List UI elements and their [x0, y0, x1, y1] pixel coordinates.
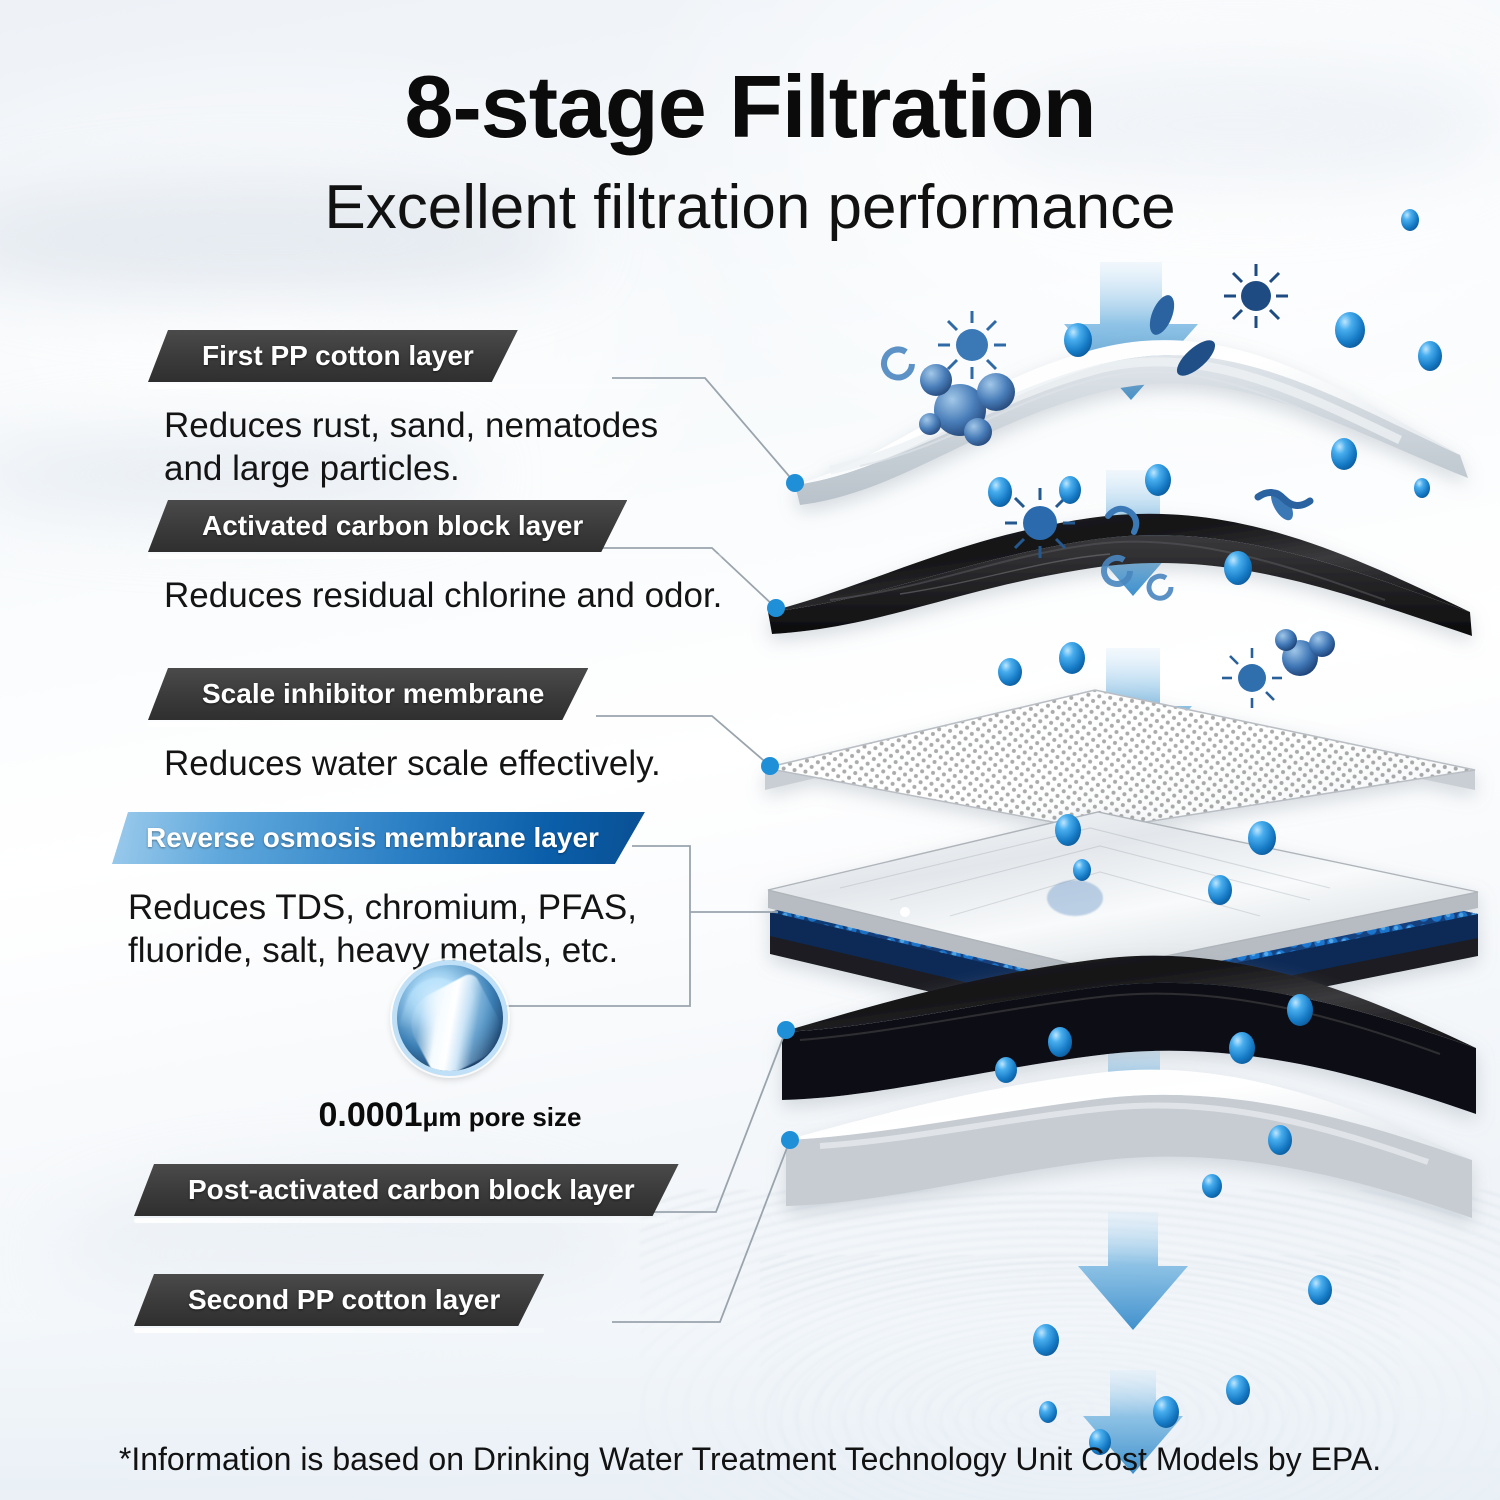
badge-underline-4	[112, 866, 645, 871]
desc-first-pp-cotton: Reduces rust, sand, nematodes and large …	[148, 405, 658, 490]
pore-size-value: 0.0001	[319, 1096, 423, 1134]
badge-post-activated-carbon-block[interactable]: Post-activated carbon block layer	[134, 1164, 679, 1216]
layer-label-column: First PP cotton layer Reduces rust, sand…	[0, 0, 760, 1500]
badge-underline-3	[148, 722, 661, 727]
badge-scale-inhibitor-membrane[interactable]: Scale inhibitor membrane	[148, 668, 588, 720]
desc-scale-inhibitor-membrane: Reduces water scale effectively.	[148, 743, 661, 786]
layer-scale-inhibitor-membrane	[765, 690, 1475, 830]
layer-second-pp-cotton	[786, 1070, 1472, 1218]
label-block-reverse-osmosis: Reverse osmosis membrane layer Reduces T…	[112, 812, 645, 972]
desc-activated-carbon-block: Reduces residual chlorine and odor.	[148, 575, 722, 618]
badge-underline-6	[134, 1328, 544, 1333]
badge-underline-5	[134, 1218, 679, 1223]
label-block-post-activated-carbon: Post-activated carbon block layer	[134, 1164, 679, 1223]
label-block-activated-carbon: Activated carbon block layer Reduces res…	[148, 500, 722, 618]
spiky-virus-1	[938, 311, 1006, 379]
badge-underline-1	[148, 384, 658, 389]
spiky-virus-4	[1222, 648, 1282, 708]
ro-membrane-roll-icon	[392, 960, 508, 1076]
pore-size-unit: μm pore size	[423, 1102, 582, 1132]
badge-first-pp-cotton[interactable]: First PP cotton layer	[148, 330, 518, 382]
badge-second-pp-cotton[interactable]: Second PP cotton layer	[134, 1274, 544, 1326]
pore-size-text: 0.0001μm pore size	[290, 1096, 610, 1135]
footer-note: *Information is based on Drinking Water …	[0, 1441, 1500, 1478]
label-block-scale-inhibitor: Scale inhibitor membrane Reduces water s…	[148, 668, 661, 786]
badge-reverse-osmosis-membrane[interactable]: Reverse osmosis membrane layer	[112, 812, 645, 864]
spiky-virus-2	[1224, 264, 1288, 328]
badge-activated-carbon-block[interactable]: Activated carbon block layer	[148, 500, 627, 552]
label-block-second-pp-cotton: Second PP cotton layer	[134, 1274, 544, 1333]
badge-underline-2	[148, 554, 722, 559]
pore-size-callout: 0.0001μm pore size	[290, 960, 610, 1135]
label-block-first-pp-cotton: First PP cotton layer Reduces rust, sand…	[148, 330, 658, 490]
